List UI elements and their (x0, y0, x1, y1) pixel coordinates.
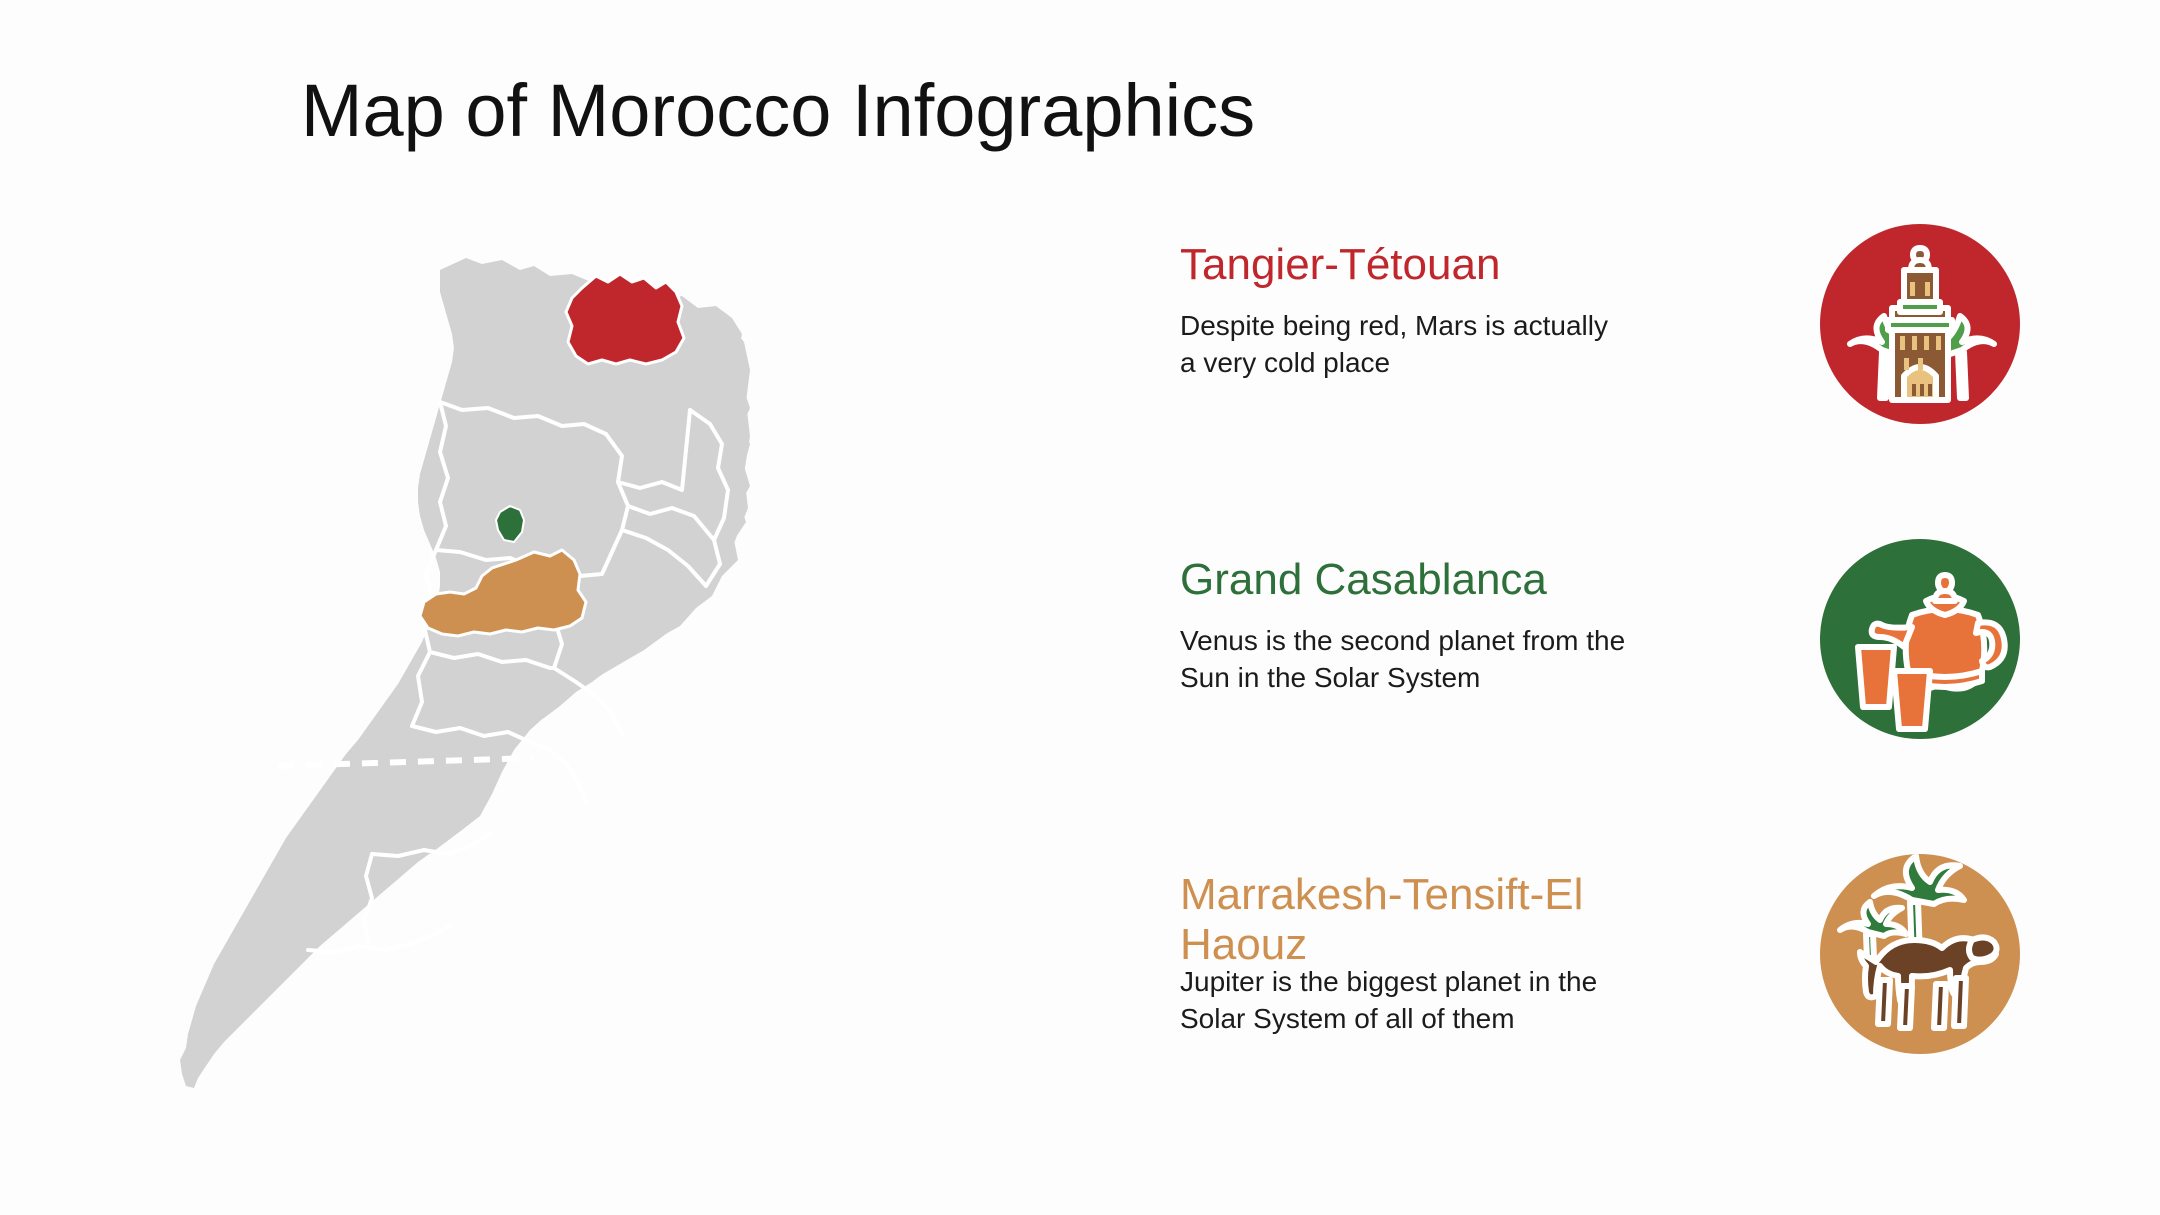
entry-body: Jupiter is the biggest planet in the Sol… (1180, 964, 1770, 1037)
entry-title: Marrakesh-Tensift-El Haouz (1180, 870, 1770, 970)
entry-body: Venus is the second planet from the Sun … (1180, 623, 1770, 696)
map-region-tangier-tetouan[interactable] (566, 274, 684, 364)
entry-body: Despite being red, Mars is actually a ve… (1180, 308, 1770, 381)
morocco-map (110, 230, 890, 1090)
camel-palm-trees-icon[interactable] (1820, 854, 2020, 1054)
mosque-minaret-icon[interactable] (1820, 224, 2020, 424)
entry-text-block: Marrakesh-Tensift-El Haouz Jupiter is th… (1180, 870, 1770, 1037)
map-grey-regions (180, 258, 750, 1088)
morocco-map-svg (110, 230, 890, 1090)
teapot-glasses-mint-icon[interactable] (1820, 539, 2020, 739)
entry-title: Tangier-Tétouan (1180, 240, 1770, 290)
entry-text-block: Tangier-Tétouan Despite being red, Mars … (1180, 240, 1770, 381)
page-title: Map of Morocco Infographics (0, 74, 2160, 148)
page-title-text: Map of Morocco Infographics (301, 74, 1255, 148)
entry-text-block: Grand Casablanca Venus is the second pla… (1180, 555, 1770, 696)
entry-title: Grand Casablanca (1180, 555, 1770, 605)
region-entry-list: Tangier-Tétouan Despite being red, Mars … (1180, 240, 2080, 1120)
